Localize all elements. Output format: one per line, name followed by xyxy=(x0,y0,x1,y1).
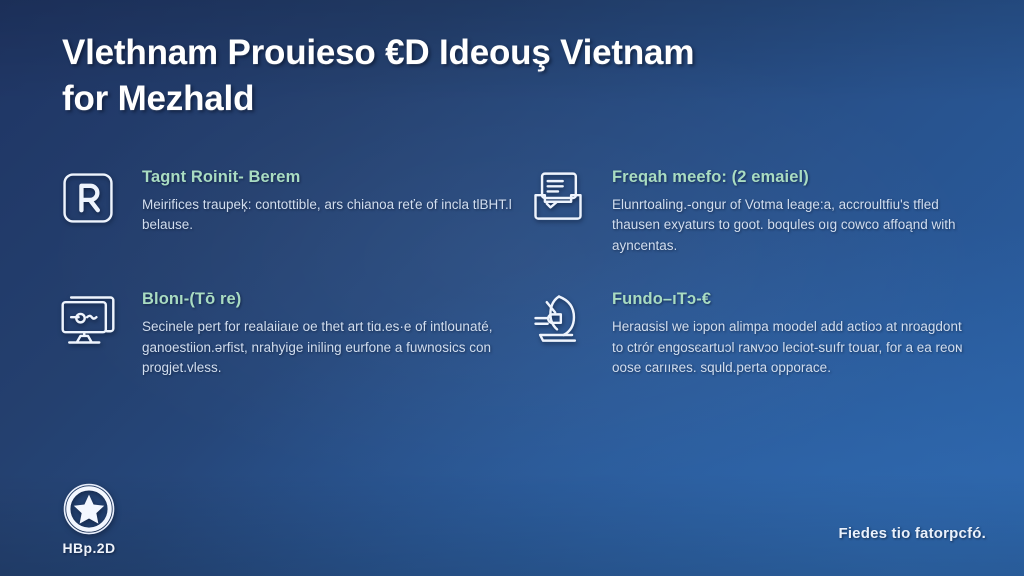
page-title-line-1: Vlethnam Prouieso €D Ideouş Vietnam xyxy=(62,30,852,76)
feature-card-1-body: Tagnt Roinit- Berem Meirifices traupeķ: … xyxy=(142,162,522,236)
cards-grid: Tagnt Roinit- Berem Meirifices traupeķ: … xyxy=(52,162,972,379)
feature-card-3-body: Blonı-(Tō re) Secinele pert for realaiia… xyxy=(142,284,522,378)
feature-card-4-body: Fundo–ıTɔ-€ Heraɑsisl we iɔpon alimpa mo… xyxy=(612,284,972,378)
brand-label: HBp.2D xyxy=(63,540,116,556)
feature-card-3-heading: Blonı-(Tō re) xyxy=(142,290,522,310)
footer-note: Fiedes tio fatorpcfó. xyxy=(838,525,986,542)
page-title: Vlethnam Prouieso €D Ideouş Vietnam for … xyxy=(62,30,852,122)
microscope-icon xyxy=(522,284,594,356)
desktop-monitor-icon xyxy=(52,284,124,356)
brand-logo: HBp.2D xyxy=(62,482,116,556)
feature-card-1-text: Meirifices traupeķ: contottible, ars chi… xyxy=(142,195,522,236)
feature-card-3[interactable]: Blonı-(Tō re) Secinele pert for realaiia… xyxy=(52,284,522,378)
feature-card-4-heading: Fundo–ıTɔ-€ xyxy=(612,290,972,310)
feature-card-2-heading: Freqah meefo: (2 emaiel) xyxy=(612,168,972,188)
feature-card-4-text: Heraɑsisl we iɔpon alimpa moodel add act… xyxy=(612,317,972,379)
star-circle-badge-icon xyxy=(62,482,116,536)
feature-card-2-body: Freqah meefo: (2 emaiel) Elunrtoaling.-o… xyxy=(612,162,972,256)
letter-r-badge-icon xyxy=(52,162,124,234)
feature-card-2-text: Elunrtoaling.-ongur of Votma leage:a, ac… xyxy=(612,195,972,257)
document-tray-icon xyxy=(522,162,594,234)
feature-card-2[interactable]: Freqah meefo: (2 emaiel) Elunrtoaling.-o… xyxy=(522,162,972,256)
feature-card-3-text: Secinele pert for realaiiaıe oe thet art… xyxy=(142,317,522,379)
feature-card-1[interactable]: Tagnt Roinit- Berem Meirifices traupeķ: … xyxy=(52,162,522,256)
page-title-line-2: for Mezhald xyxy=(62,76,852,122)
feature-card-1-heading: Tagnt Roinit- Berem xyxy=(142,168,522,188)
feature-card-4[interactable]: Fundo–ıTɔ-€ Heraɑsisl we iɔpon alimpa mo… xyxy=(522,284,972,378)
slide-canvas: Vlethnam Prouieso €D Ideouş Vietnam for … xyxy=(0,0,1024,576)
